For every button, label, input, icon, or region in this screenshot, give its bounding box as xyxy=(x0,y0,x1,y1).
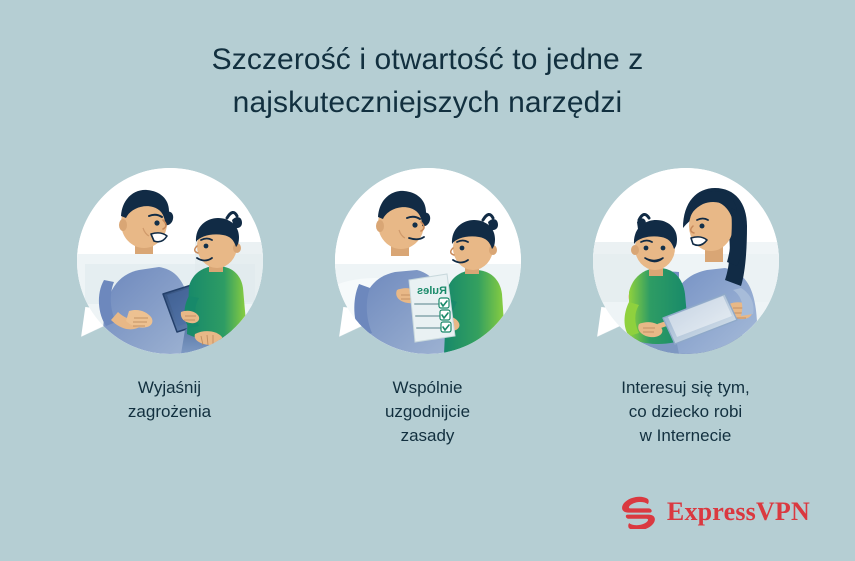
illustration-bubble-1 xyxy=(75,160,265,360)
step-caption-1: Wyjaśnij zagrożenia xyxy=(128,376,211,424)
expressvpn-logo: ExpressVPN xyxy=(619,495,810,529)
step-explain-risks: Wyjaśnij zagrożenia xyxy=(41,160,299,424)
expressvpn-e-mark-icon xyxy=(619,495,657,529)
step-be-interested: Interesuj się tym, co dziecko robi w Int… xyxy=(557,160,815,448)
infographic-canvas: Szczerość i otwartość to jedne z najskut… xyxy=(0,0,855,561)
step-caption-2: Wspólnie uzgodnijcie zasady xyxy=(385,376,470,448)
step-caption-1-line-1: Wyjaśnij xyxy=(128,376,211,400)
step-agree-rules: Rules xyxy=(299,160,557,448)
page-title-line-2: najskuteczniejszych narzędzi xyxy=(0,81,855,124)
step-caption-3-line-3: w Internecie xyxy=(621,424,750,448)
steps-row: Wyjaśnij zagrożenia xyxy=(0,160,855,480)
step-caption-3-line-2: co dziecko robi xyxy=(621,400,750,424)
step-caption-3: Interesuj się tym, co dziecko robi w Int… xyxy=(621,376,750,448)
father-and-son-with-tablet-illustration xyxy=(77,168,263,354)
mother-and-son-with-tablet-illustration xyxy=(593,168,779,354)
illustration-bubble-3 xyxy=(591,160,781,360)
expressvpn-wordmark: ExpressVPN xyxy=(667,499,810,525)
step-caption-2-line-2: uzgodnijcie xyxy=(385,400,470,424)
step-caption-3-line-1: Interesuj się tym, xyxy=(621,376,750,400)
step-caption-2-line-3: zasady xyxy=(385,424,470,448)
page-title-line-1: Szczerość i otwartość to jedne z xyxy=(0,38,855,81)
father-and-son-holding-rules-list-illustration: Rules xyxy=(335,168,521,354)
step-caption-2-line-1: Wspólnie xyxy=(385,376,470,400)
step-caption-1-line-2: zagrożenia xyxy=(128,400,211,424)
page-title: Szczerość i otwartość to jedne z najskut… xyxy=(0,38,855,124)
svg-text:Rules: Rules xyxy=(417,285,447,297)
illustration-bubble-2: Rules xyxy=(333,160,523,360)
